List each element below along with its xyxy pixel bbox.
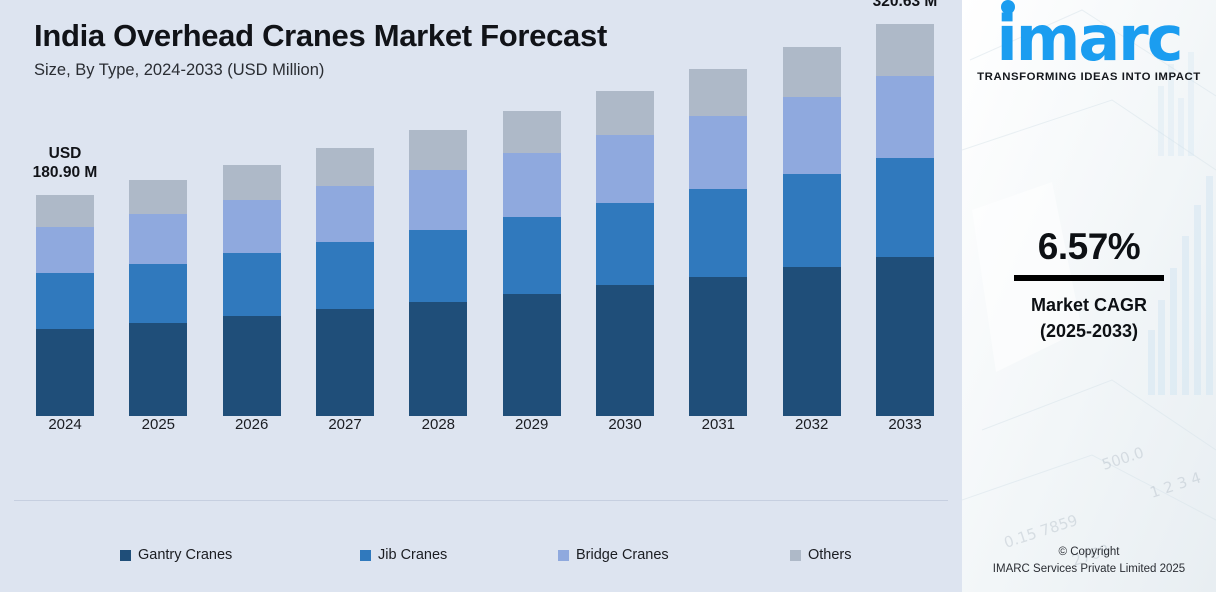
copyright-line-2: IMARC Services Private Limited 2025 bbox=[962, 561, 1216, 578]
cagr-value: 6.57% bbox=[962, 228, 1216, 267]
x-axis-tick-label: 2028 bbox=[391, 416, 485, 433]
stacked-bar[interactable] bbox=[596, 91, 654, 416]
stacked-bar[interactable] bbox=[316, 148, 374, 416]
stacked-bar[interactable] bbox=[689, 69, 747, 416]
bar-value-label: USD320.63 M bbox=[852, 0, 958, 12]
bar-segment[interactable] bbox=[783, 174, 841, 267]
bar-segment[interactable] bbox=[876, 24, 934, 76]
legend-swatch-icon bbox=[120, 550, 131, 561]
bar-segment[interactable] bbox=[689, 69, 747, 116]
bar-group[interactable]: 2026 bbox=[205, 0, 299, 416]
logo-wordmark-wrap: imarc bbox=[996, 8, 1181, 70]
bar-segment[interactable] bbox=[783, 97, 841, 174]
legend-label: Bridge Cranes bbox=[576, 547, 669, 563]
cagr-divider bbox=[1014, 275, 1164, 281]
x-axis-tick-label: 2032 bbox=[765, 416, 859, 433]
bar-segment[interactable] bbox=[503, 217, 561, 294]
bar-segment[interactable] bbox=[503, 153, 561, 217]
bar-segment[interactable] bbox=[36, 329, 94, 416]
stacked-bar[interactable] bbox=[876, 24, 934, 416]
bar-value-label-line-1: USD bbox=[12, 145, 118, 164]
stacked-bar[interactable] bbox=[36, 195, 94, 416]
legend-item[interactable]: Others bbox=[790, 547, 852, 563]
chart-legend: Gantry CranesJib CranesBridge CranesOthe… bbox=[0, 547, 962, 577]
bar-segment[interactable] bbox=[129, 323, 187, 416]
bar-segment[interactable] bbox=[596, 135, 654, 203]
bar-segment[interactable] bbox=[876, 76, 934, 158]
bar-segment[interactable] bbox=[503, 111, 561, 153]
stacked-bar[interactable] bbox=[503, 111, 561, 416]
x-axis-tick-label: 2026 bbox=[205, 416, 299, 433]
bar-segment[interactable] bbox=[129, 264, 187, 323]
bar-value-label: USD180.90 M bbox=[12, 145, 118, 183]
copyright-line-1: © Copyright bbox=[962, 544, 1216, 561]
bar-segment[interactable] bbox=[409, 130, 467, 170]
x-axis-tick-label: 2024 bbox=[18, 416, 112, 433]
legend-item[interactable]: Gantry Cranes bbox=[120, 547, 232, 563]
legend-swatch-icon bbox=[558, 550, 569, 561]
bar-segment[interactable] bbox=[223, 253, 281, 316]
imarc-logo: imarc TRANSFORMING IDEAS INTO IMPACT bbox=[962, 8, 1216, 83]
bar-group[interactable]: USD320.63 M2033 bbox=[858, 0, 952, 416]
bar-segment[interactable] bbox=[409, 170, 467, 230]
bar-segment[interactable] bbox=[689, 277, 747, 416]
x-axis-tick-label: 2030 bbox=[578, 416, 672, 433]
chart-panel: India Overhead Cranes Market Forecast Si… bbox=[0, 0, 962, 592]
bar-segment[interactable] bbox=[689, 189, 747, 276]
bar-value-label-line-2: 180.90 M bbox=[12, 164, 118, 183]
bar-segment[interactable] bbox=[316, 148, 374, 186]
bar-group[interactable]: 2031 bbox=[671, 0, 765, 416]
bar-segment[interactable] bbox=[783, 47, 841, 96]
bar-segment[interactable] bbox=[36, 227, 94, 273]
copyright-notice: © Copyright IMARC Services Private Limit… bbox=[962, 544, 1216, 579]
axis-baseline bbox=[14, 500, 948, 501]
bar-segment[interactable] bbox=[316, 309, 374, 416]
bar-group[interactable]: 2028 bbox=[391, 0, 485, 416]
bar-group[interactable]: 2025 bbox=[111, 0, 205, 416]
chart-page: India Overhead Cranes Market Forecast Si… bbox=[0, 0, 1216, 592]
x-axis-tick-label: 2025 bbox=[111, 416, 205, 433]
bar-segment[interactable] bbox=[316, 186, 374, 242]
bar-segment[interactable] bbox=[783, 267, 841, 416]
bar-segment[interactable] bbox=[223, 316, 281, 416]
bar-group[interactable]: USD180.90 M2024 bbox=[18, 0, 112, 416]
stacked-bar[interactable] bbox=[409, 130, 467, 416]
side-panel: 500.0 1 2 3 4 0.15 7859 2768 imarc TRANS… bbox=[962, 0, 1216, 592]
x-axis-tick-label: 2027 bbox=[298, 416, 392, 433]
bar-segment[interactable] bbox=[409, 302, 467, 416]
bar-segment[interactable] bbox=[689, 116, 747, 189]
cagr-period: (2025-2033) bbox=[962, 318, 1216, 344]
stacked-bar[interactable] bbox=[223, 165, 281, 416]
bar-segment[interactable] bbox=[129, 214, 187, 264]
bar-value-label-line-2: 320.63 M bbox=[852, 0, 958, 12]
bar-segment[interactable] bbox=[223, 165, 281, 201]
stacked-bar[interactable] bbox=[129, 180, 187, 416]
bar-segment[interactable] bbox=[876, 158, 934, 257]
cagr-block: 6.57% Market CAGR (2025-2033) bbox=[962, 228, 1216, 344]
bar-segment[interactable] bbox=[129, 180, 187, 214]
bar-group[interactable]: 2027 bbox=[298, 0, 392, 416]
stacked-bar[interactable] bbox=[783, 47, 841, 416]
bar-group[interactable]: 2030 bbox=[578, 0, 672, 416]
cagr-label: Market CAGR bbox=[962, 292, 1216, 318]
bar-segment[interactable] bbox=[223, 200, 281, 253]
bar-segment[interactable] bbox=[503, 294, 561, 416]
x-axis-tick-label: 2033 bbox=[858, 416, 952, 433]
bar-segment[interactable] bbox=[316, 242, 374, 309]
bar-segment[interactable] bbox=[36, 195, 94, 227]
bar-segment[interactable] bbox=[596, 203, 654, 285]
x-axis-tick-label: 2031 bbox=[671, 416, 765, 433]
bar-segment[interactable] bbox=[409, 230, 467, 302]
legend-item[interactable]: Jib Cranes bbox=[360, 547, 447, 563]
bar-segment[interactable] bbox=[36, 273, 94, 328]
legend-item[interactable]: Bridge Cranes bbox=[558, 547, 669, 563]
legend-swatch-icon bbox=[790, 550, 801, 561]
legend-label: Jib Cranes bbox=[378, 547, 447, 563]
legend-label: Others bbox=[808, 547, 852, 563]
x-axis-tick-label: 2029 bbox=[485, 416, 579, 433]
plot-area: USD180.90 M20242025202620272028202920302… bbox=[0, 0, 962, 508]
legend-label: Gantry Cranes bbox=[138, 547, 232, 563]
bar-segment[interactable] bbox=[596, 285, 654, 416]
bar-group[interactable]: 2032 bbox=[765, 0, 859, 416]
legend-swatch-icon bbox=[360, 550, 371, 561]
bar-segment[interactable] bbox=[876, 257, 934, 416]
bar-group[interactable]: 2029 bbox=[485, 0, 579, 416]
bar-segment[interactable] bbox=[596, 91, 654, 135]
logo-wordmark: imarc bbox=[996, 2, 1181, 75]
